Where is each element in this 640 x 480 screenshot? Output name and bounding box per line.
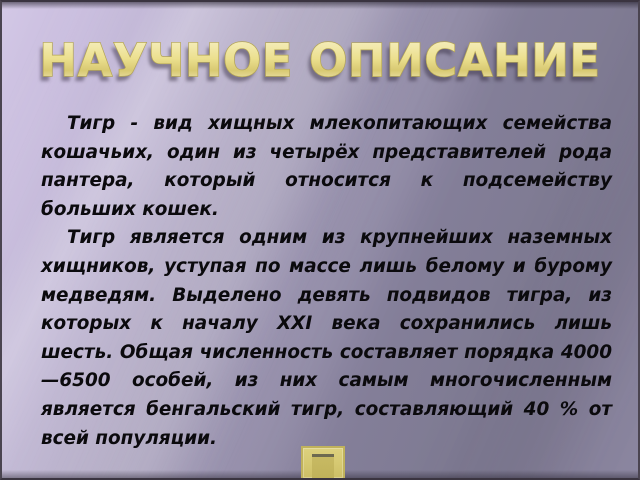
slide-body-text: Тигр - вид хищных млекопитающих семейств… — [41, 110, 612, 453]
picture-placeholder-icon-inner — [312, 454, 334, 480]
slide-title-block: НАУЧНОЕ ОПИСАНИЕ НАУЧНОЕ ОПИСАНИЕ НАУЧНО… — [2, 38, 638, 83]
presentation-slide: НАУЧНОЕ ОПИСАНИЕ НАУЧНОЕ ОПИСАНИЕ НАУЧНО… — [0, 0, 640, 480]
top-edge-shade — [2, 2, 638, 9]
slide-title: НАУЧНОЕ ОПИСАНИЕ — [39, 38, 600, 83]
title-wrapper: НАУЧНОЕ ОПИСАНИЕ НАУЧНОЕ ОПИСАНИЕ НАУЧНО… — [39, 38, 600, 83]
picture-placeholder-icon[interactable] — [301, 446, 345, 480]
body-paragraph-1: Тигр - вид хищных млекопитающих семейств… — [41, 110, 612, 224]
body-paragraph-2: Тигр является одним из крупнейших наземн… — [41, 224, 612, 453]
